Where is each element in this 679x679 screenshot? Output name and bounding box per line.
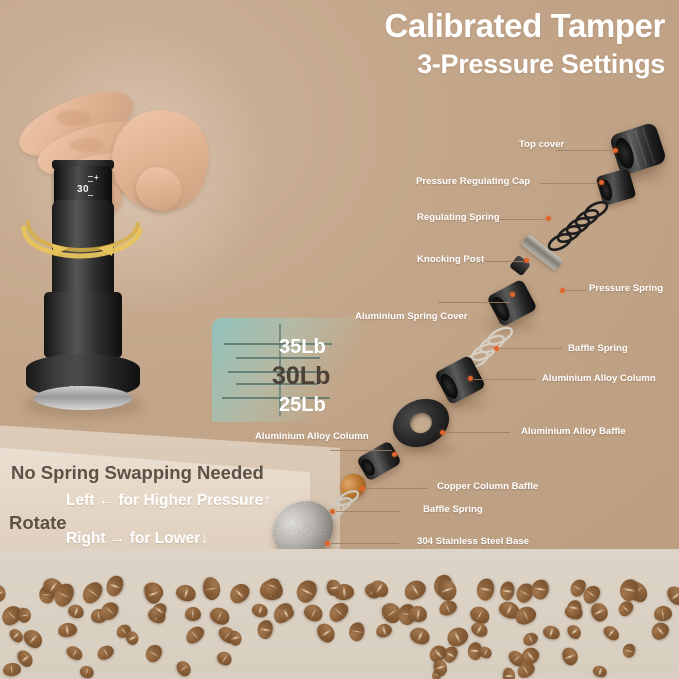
coffee-bean	[226, 580, 253, 607]
coffee-bean	[601, 623, 622, 643]
coffee-bean	[17, 607, 32, 624]
coffee-bean	[201, 576, 221, 601]
coffee-bean	[78, 664, 95, 679]
coffee-bean	[664, 583, 679, 608]
coffee-bean	[653, 604, 672, 621]
coffee-bean	[615, 598, 635, 619]
coffee-bean	[301, 602, 325, 625]
coffee-bean	[348, 620, 366, 642]
coffee-bean	[560, 645, 581, 668]
coffee-bean	[541, 623, 561, 641]
callout-baffle-spring-lower: Baffle Spring	[423, 504, 483, 515]
coffee-bean	[64, 644, 85, 664]
coffee-bean	[104, 574, 126, 599]
coffee-bean	[503, 668, 516, 679]
callout-pressure-spring: Pressure Spring	[589, 283, 663, 294]
coffee-bean	[227, 630, 242, 647]
coffee-bean	[250, 602, 269, 619]
coffee-bean	[21, 626, 47, 652]
callout-aluminium-alloy-column-lower: Aluminium Alloy Column	[255, 431, 369, 442]
callout-baffle-spring-upper: Baffle Spring	[568, 343, 628, 354]
coffee-bean	[182, 624, 206, 648]
callout-aluminium-alloy-baffle: Aluminium Alloy Baffle	[521, 426, 626, 437]
coffee-bean	[531, 579, 551, 602]
infographic-canvas: Calibrated Tamper 3-Pressure Settings 30…	[0, 0, 679, 679]
coffee-bean	[648, 619, 672, 643]
coffee-bean	[0, 584, 7, 603]
coffee-beans-layer	[0, 549, 679, 679]
callout-aluminium-alloy-column-upper: Aluminium Alloy Column	[542, 373, 656, 384]
coffee-bean	[477, 645, 494, 661]
callout-regulating-spring: Regulating Spring	[417, 212, 500, 223]
coffee-bean	[408, 624, 433, 647]
coffee-bean	[174, 583, 198, 604]
coffee-bean	[565, 623, 584, 642]
coffee-bean	[437, 598, 459, 618]
coffee-bean	[208, 605, 233, 628]
coffee-bean	[326, 599, 352, 625]
coffee-bean	[436, 578, 460, 603]
coffee-bean	[185, 607, 201, 621]
coffee-bean	[444, 624, 470, 649]
coffee-bean	[313, 621, 338, 647]
coffee-bean	[468, 620, 489, 640]
coffee-bean	[374, 621, 394, 639]
callout-knocking-post: Knocking Post	[417, 254, 484, 265]
coffee-bean	[215, 649, 235, 668]
callout-top-cover: Top cover	[519, 139, 564, 150]
coffee-bean	[475, 577, 495, 602]
coffee-bean	[588, 600, 611, 624]
coffee-bean	[293, 577, 320, 606]
callout-aluminium-spring-cover: Aluminium Spring Cover	[355, 311, 467, 322]
part-regulating-spring	[538, 198, 614, 254]
coffee-bean	[142, 642, 164, 665]
coffee-bean	[521, 630, 540, 648]
coffee-bean	[66, 603, 86, 621]
coffee-bean	[592, 663, 609, 678]
callout-copper-column-baffle: Copper Column Baffle	[437, 481, 538, 492]
coffee-bean	[95, 643, 116, 663]
coffee-beans-band	[0, 549, 679, 679]
coffee-bean	[174, 658, 194, 678]
coffee-bean	[401, 577, 429, 604]
coffee-bean	[621, 643, 636, 659]
callout-pressure-regulating-cap: Pressure Regulating Cap	[416, 176, 530, 187]
coffee-bean	[78, 578, 106, 607]
coffee-bean	[499, 581, 515, 601]
callout-stainless-steel-base: 304 Stainless Steel Base	[417, 536, 529, 547]
coffee-bean	[2, 662, 21, 677]
coffee-bean	[57, 621, 78, 638]
coffee-bean	[256, 619, 274, 640]
